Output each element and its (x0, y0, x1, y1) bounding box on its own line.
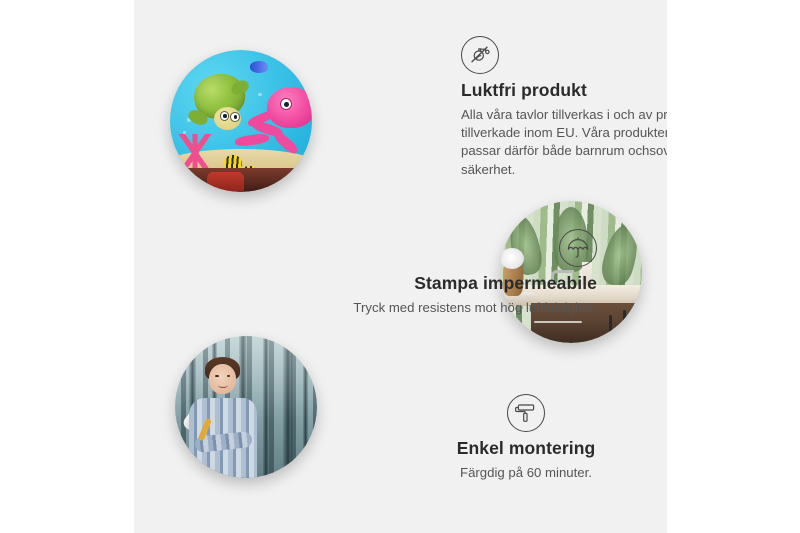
photo-forest-inner (175, 336, 317, 478)
cabinet-handle (609, 315, 612, 338)
woman-face (209, 364, 236, 394)
woman-smile (218, 383, 228, 388)
foreground-red-object (207, 172, 244, 192)
photo-woman-with-paint-roller-forest (175, 336, 317, 478)
photo-underwater-inner (170, 50, 312, 192)
umbrella-icon (559, 229, 597, 267)
blue-fish-icon (250, 61, 268, 72)
photo-underwater-kids-mural (170, 50, 312, 192)
pink-coral-icon (176, 134, 214, 172)
drawer-pull (534, 321, 582, 323)
turtle-eye (230, 112, 240, 122)
cabinet-handle (623, 310, 627, 337)
feature-title: Enkel montering (426, 438, 626, 460)
feature-description: Alla våra tavlor tillverkas i och av pro… (461, 106, 667, 179)
content-panel: Luktfri produkt Alla våra tavlor tillver… (134, 0, 667, 533)
feature-waterproof-print: Stampa impermeabile Tryck med resistens … (314, 229, 597, 317)
feature-easy-mounting: Enkel montering Färgdig på 60 minuter. (426, 394, 626, 482)
paint-roller-icon (507, 394, 545, 432)
feature-title: Stampa impermeabile (314, 273, 597, 295)
feature-description: Färgdig på 60 minuter. (426, 464, 626, 482)
product-features-panel: Luktfri produkt Alla våra tavlor tillver… (0, 0, 800, 533)
bubble-icon (258, 93, 262, 97)
feature-title: Luktfri produkt (461, 80, 667, 102)
no-odour-spray-bottle-icon (461, 36, 499, 74)
feature-description: Tryck med resistens mot hög luftfuktighe… (314, 299, 597, 317)
feature-odour-free: Luktfri produkt Alla våra tavlor tillver… (461, 36, 667, 179)
